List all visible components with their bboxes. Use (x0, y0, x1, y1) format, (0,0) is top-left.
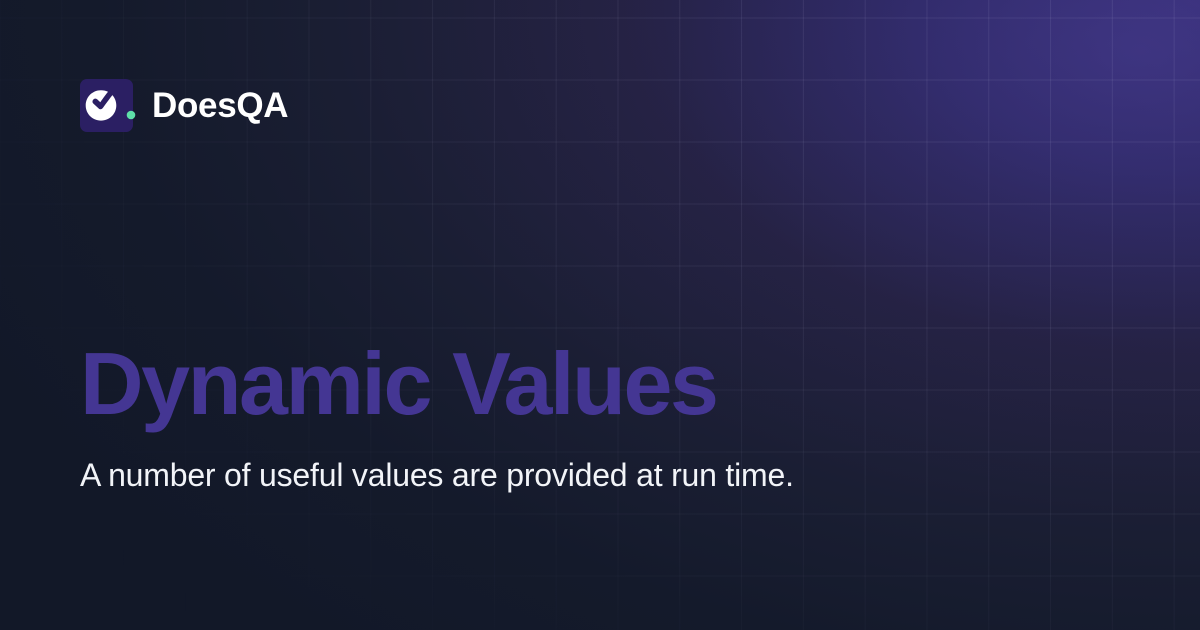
card-content: DoesQA Dynamic Values A number of useful… (0, 0, 1200, 630)
logo-tile (80, 79, 133, 132)
brand-name: DoesQA (152, 88, 288, 123)
page-subtitle: A number of useful values are provided a… (80, 453, 800, 497)
brand-lockup[interactable]: DoesQA (80, 79, 288, 132)
dot-icon (126, 110, 138, 122)
social-card: DoesQA Dynamic Values A number of useful… (0, 0, 1200, 630)
hero-text-block: Dynamic Values A number of useful values… (80, 336, 920, 497)
page-title: Dynamic Values (80, 336, 920, 431)
check-circle-icon (84, 89, 118, 123)
